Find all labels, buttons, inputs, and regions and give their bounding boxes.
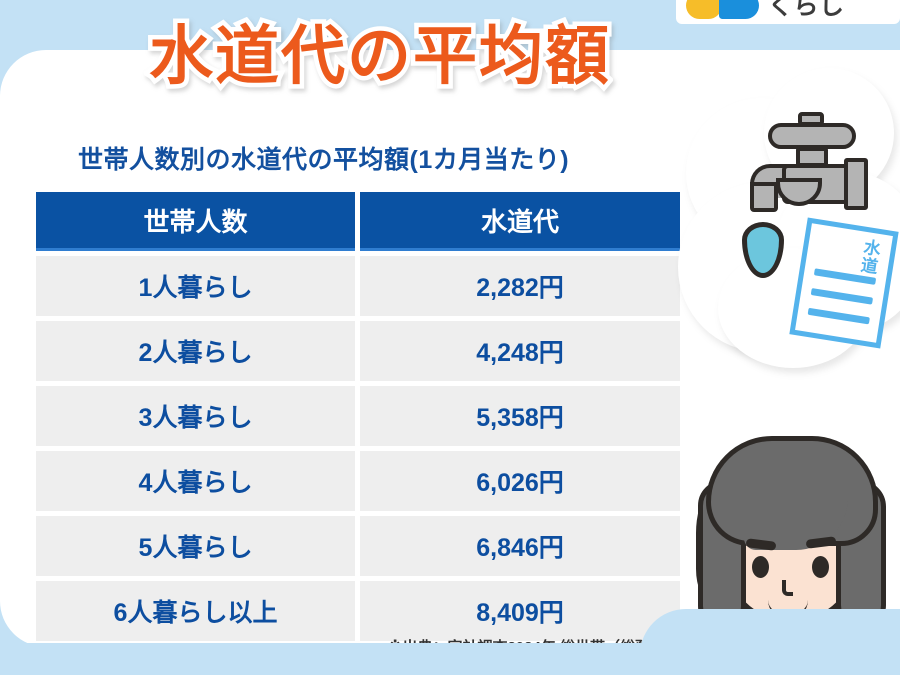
eye-left [752, 556, 769, 578]
cell-household: 4人暮らし [36, 451, 355, 511]
faucet-neck [796, 147, 828, 167]
faucet-flange [844, 158, 868, 210]
cell-household: 1人暮らし [36, 256, 355, 316]
bill-label: 水道 [854, 237, 884, 276]
table-header-row: 世帯人数 水道代 [36, 192, 680, 251]
average-water-fee-table: 世帯人数 水道代 1人暮らし 2,282円 2人暮らし 4,248円 3人暮らし… [36, 192, 680, 646]
page-title: 水道代の平均額 [0, 16, 760, 96]
water-bill-icon: 水道 [789, 218, 898, 349]
column-header-household: 世帯人数 [36, 192, 355, 251]
bill-text-line [811, 288, 873, 305]
table-row: 6人暮らし以上 8,409円 [36, 581, 680, 641]
column-header-fee: 水道代 [360, 192, 680, 251]
nose [782, 580, 793, 596]
table-row: 5人暮らし 6,846円 [36, 516, 680, 576]
cell-fee: 2,282円 [360, 256, 680, 316]
table-row: 4人暮らし 6,026円 [36, 451, 680, 511]
cell-fee: 6,846円 [360, 516, 680, 576]
faucet-handle [768, 123, 856, 149]
cell-household: 5人暮らし [36, 516, 355, 576]
table-row: 1人暮らし 2,282円 [36, 256, 680, 316]
section-subtitle: 世帯人数別の水道代の平均額(1カ月当たり) [78, 140, 569, 176]
eye-right [812, 556, 829, 578]
bottom-wave [0, 643, 900, 675]
brand-logo-text: くらし [768, 0, 845, 20]
faucet-spout [750, 182, 778, 212]
cell-fee: 8,409円 [360, 581, 680, 641]
cell-fee: 5,358円 [360, 386, 680, 446]
cell-household: 2人暮らし [36, 321, 355, 381]
faucet-icon [744, 112, 874, 212]
bill-text-line [808, 308, 870, 325]
cell-household: 6人暮らし以上 [36, 581, 355, 641]
table-row: 3人暮らし 5,358円 [36, 386, 680, 446]
infographic-canvas: くらし 水道代の平均額 世帯人数別の水道代の平均額(1カ月当たり) 世帯人数 水… [0, 0, 900, 675]
faucet-knob-top [798, 112, 824, 126]
cell-fee: 4,248円 [360, 321, 680, 381]
cell-household: 3人暮らし [36, 386, 355, 446]
cell-fee: 6,026円 [360, 451, 680, 511]
table-row: 2人暮らし 4,248円 [36, 321, 680, 381]
